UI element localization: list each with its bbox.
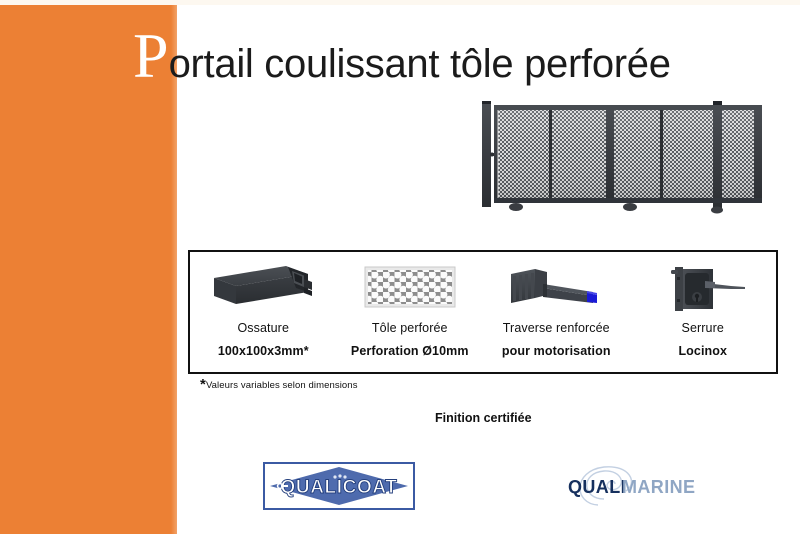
reinforced-crossbar-motor-icon [499,260,614,314]
footnote-text: Valeurs variables selon dimensions [206,380,358,391]
top-cream-strip [0,0,800,5]
perforated-sheet-sample-icon [360,260,460,314]
feature-item-sheet-spec: Perforation Ø10mm [351,344,469,358]
feature-item-lock-spec: Locinox [678,344,727,358]
feature-item-frame-spec: 100x100x3mm* [218,344,309,358]
feature-item-crossbar: Traverse renforcée pour motorisation [483,252,630,372]
steel-frame-profile-icon [208,260,318,314]
page-title-rest: ortail coulissant tôle perforée [169,42,671,86]
feature-item-sheet-label: Tôle perforée [372,321,448,335]
footnote: *Valeurs variables selon dimensions [200,380,358,391]
product-feature-box: Ossature 100x100x3mm* [188,250,778,374]
qualicoat-wordmark: QUALICOAT [281,477,398,498]
qualicoat-logo: QUALICOAT [263,462,415,510]
feature-item-frame: Ossature 100x100x3mm* [190,252,337,372]
poster-canvas: Fe Acier 4mm* galvanisé [0,0,800,534]
feature-item-lock: Serrure Locinox [630,252,777,372]
feature-item-lock-label: Serrure [682,321,724,335]
feature-item-crossbar-label: Traverse renforcée [503,321,610,335]
sliding-gate-perforated-sheet-photo [470,95,790,225]
qualimarine-wordmark-bold: QUALI [568,477,626,497]
feature-item-frame-label: Ossature [237,321,289,335]
qualimarine-wordmark-light: MARINE [622,477,695,497]
qualimarine-logo: QUALI MARINE [560,465,710,510]
page-title-initial: P [133,20,169,91]
feature-item-sheet: Tôle perforée Perforation Ø10mm [337,252,484,372]
locinox-lock-icon [655,260,750,314]
certified-finish-label: Finition certifiée [435,411,532,425]
feature-item-crossbar-spec: pour motorisation [502,344,611,358]
page-title: Portail coulissant tôle perforée [133,25,671,87]
